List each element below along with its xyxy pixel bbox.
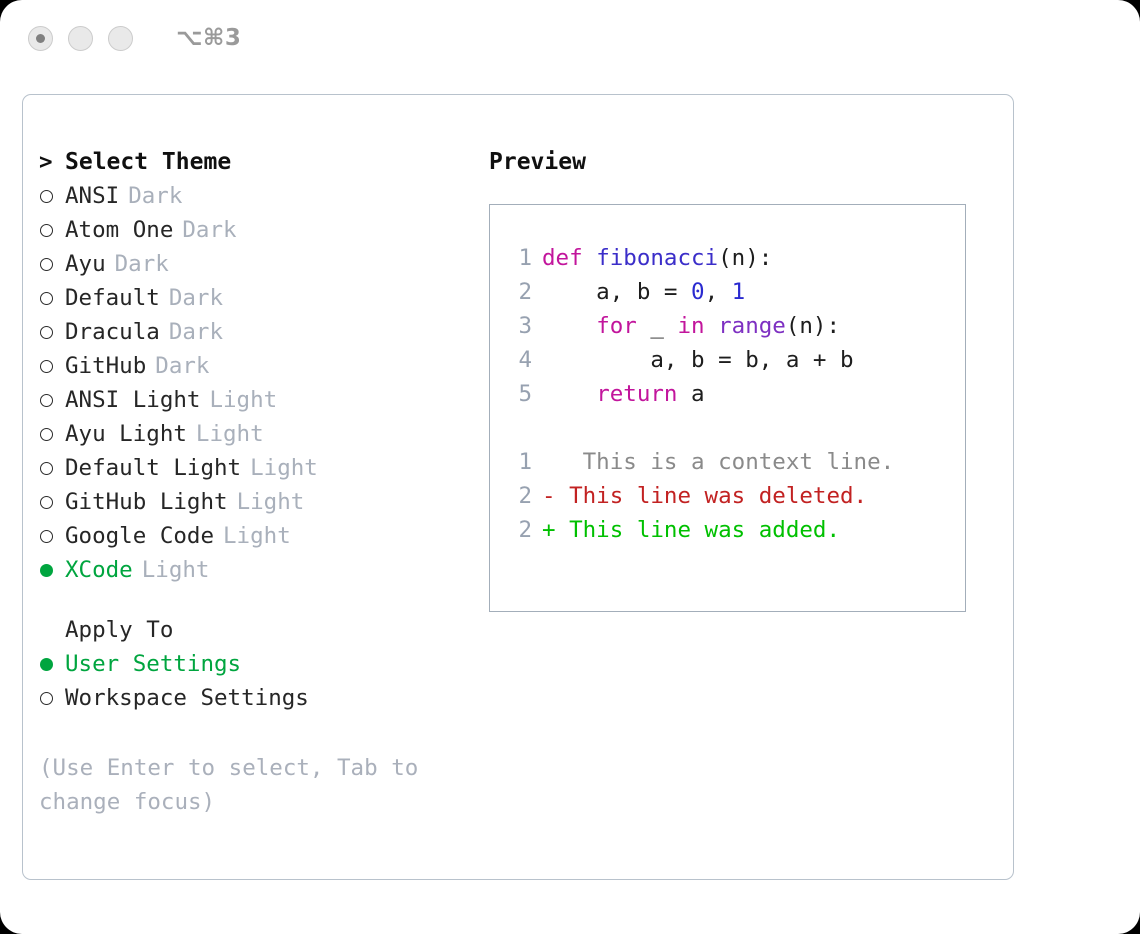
keyboard-hint-text: (Use Enter to select, Tab to change focu… <box>39 751 439 819</box>
app-window: ⌥⌘3 > Select Theme ANSIDarkAtom OneDarkA… <box>0 0 1140 934</box>
radio-glyph <box>40 326 53 339</box>
theme-list-item[interactable]: Default LightLight <box>39 451 488 485</box>
diff-text: This line was deleted. <box>556 483 868 509</box>
radio-glyph <box>40 496 53 509</box>
theme-list: ANSIDarkAtom OneDarkAyuDarkDefaultDarkDr… <box>39 179 488 587</box>
code-token: a <box>677 381 704 407</box>
code-token: fibonacci <box>596 245 718 271</box>
titlebar: ⌥⌘3 <box>0 0 1140 76</box>
theme-list-item[interactable]: DefaultDark <box>39 281 488 315</box>
diff-sign: + <box>542 517 556 543</box>
code-token: 1 <box>732 279 746 305</box>
select-theme-header: > Select Theme <box>39 145 488 179</box>
radio-unselected-icon <box>39 349 65 383</box>
code-token <box>542 381 596 407</box>
theme-kind-label: Dark <box>128 179 182 213</box>
theme-kind-label: Dark <box>115 247 169 281</box>
apply-to-options: User SettingsWorkspace Settings <box>39 647 488 715</box>
radio-glyph <box>40 564 53 577</box>
diff-sample: 1 This is a context line.2- This line wa… <box>506 445 965 547</box>
theme-kind-label: Light <box>237 485 305 519</box>
radio-glyph <box>40 428 53 441</box>
theme-name: ANSI <box>65 179 119 213</box>
code-token: , <box>705 279 732 305</box>
radio-glyph <box>40 224 53 237</box>
preview-title: Preview <box>489 145 1013 179</box>
radio-glyph <box>40 530 53 543</box>
theme-kind-label: Dark <box>169 281 223 315</box>
prompt-caret-icon: > <box>39 145 65 179</box>
theme-name: Default Light <box>65 451 241 485</box>
code-sample: 1def fibonacci(n):2 a, b = 0, 13 for _ i… <box>506 241 965 411</box>
code-token <box>542 313 596 339</box>
apply-to-option-label: Workspace Settings <box>65 681 309 715</box>
theme-name: GitHub Light <box>65 485 228 519</box>
diff-line-number: 1 <box>506 445 532 479</box>
diff-sign <box>542 449 556 475</box>
theme-kind-label: Dark <box>155 349 209 383</box>
theme-kind-label: Light <box>196 417 264 451</box>
code-token: in <box>677 313 704 339</box>
theme-name: Google Code <box>65 519 214 553</box>
hint-spacer <box>39 715 488 749</box>
theme-kind-label: Dark <box>169 315 223 349</box>
radio-unselected-icon <box>39 179 65 213</box>
theme-name: Dracula <box>65 315 160 349</box>
diff-sign: - <box>542 483 556 509</box>
radio-unselected-icon <box>39 383 65 417</box>
diff-text: This is a context line. <box>556 449 895 475</box>
theme-kind-label: Light <box>223 519 291 553</box>
radio-glyph <box>40 360 53 373</box>
theme-name: XCode <box>65 553 133 587</box>
code-line-number: 5 <box>506 377 532 411</box>
diff-text: This line was added. <box>556 517 840 543</box>
radio-selected-icon <box>39 647 65 681</box>
code-token: a, b = b, a + b <box>542 347 854 373</box>
theme-list-item[interactable]: ANSIDark <box>39 179 488 213</box>
code-token: (n): <box>786 313 840 339</box>
code-line: 3 for _ in range(n): <box>506 309 965 343</box>
code-line: 4 a, b = b, a + b <box>506 343 965 377</box>
code-line-number: 1 <box>506 241 532 275</box>
theme-list-item[interactable]: Google CodeLight <box>39 519 488 553</box>
code-line: 1def fibonacci(n): <box>506 241 965 275</box>
diff-line: 2- This line was deleted. <box>506 479 965 513</box>
code-line-number: 4 <box>506 343 532 377</box>
content-window: > Select Theme ANSIDarkAtom OneDarkAyuDa… <box>22 94 1014 880</box>
radio-unselected-icon <box>39 417 65 451</box>
code-token: return <box>596 381 677 407</box>
theme-list-item[interactable]: Ayu LightLight <box>39 417 488 451</box>
diff-line-number: 2 <box>506 513 532 547</box>
theme-list-item[interactable]: DraculaDark <box>39 315 488 349</box>
theme-list-item[interactable]: XCodeLight <box>39 553 488 587</box>
code-line-number: 2 <box>506 275 532 309</box>
code-token: def <box>542 245 596 271</box>
window-dot-1[interactable] <box>28 26 53 51</box>
code-diff-gap <box>506 411 965 445</box>
diff-line-number: 2 <box>506 479 532 513</box>
code-line-number: 3 <box>506 309 532 343</box>
diff-line: 1 This is a context line. <box>506 445 965 479</box>
window-dot-2[interactable] <box>68 26 93 51</box>
theme-name: Ayu <box>65 247 106 281</box>
code-line: 5 return a <box>506 377 965 411</box>
theme-picker-panel: > Select Theme ANSIDarkAtom OneDarkAyuDa… <box>23 95 488 879</box>
code-token: for <box>596 313 637 339</box>
radio-unselected-icon <box>39 519 65 553</box>
window-dot-1-indicator <box>36 34 45 43</box>
radio-unselected-icon <box>39 247 65 281</box>
radio-glyph <box>40 292 53 305</box>
radio-glyph <box>40 258 53 271</box>
theme-kind-label: Light <box>250 451 318 485</box>
theme-list-item[interactable]: ANSI LightLight <box>39 383 488 417</box>
radio-glyph <box>40 394 53 407</box>
window-dot-3[interactable] <box>108 26 133 51</box>
radio-unselected-icon <box>39 281 65 315</box>
theme-name: Ayu Light <box>65 417 187 451</box>
apply-to-option-label: User Settings <box>65 647 241 681</box>
diff-line: 2+ This line was added. <box>506 513 965 547</box>
radio-glyph <box>40 462 53 475</box>
code-token <box>705 313 719 339</box>
radio-glyph <box>40 692 53 705</box>
theme-kind-label: Light <box>209 383 277 417</box>
code-token: (n): <box>718 245 772 271</box>
apply-to-label: Apply To <box>65 613 173 647</box>
theme-name: Default <box>65 281 160 315</box>
radio-glyph <box>40 658 53 671</box>
theme-list-item[interactable]: Atom OneDark <box>39 213 488 247</box>
theme-list-item[interactable]: AyuDark <box>39 247 488 281</box>
code-line: 2 a, b = 0, 1 <box>506 275 965 309</box>
radio-unselected-icon <box>39 485 65 519</box>
radio-unselected-icon <box>39 315 65 349</box>
preview-panel: Preview 1def fibonacci(n):2 a, b = 0, 13… <box>488 95 1013 879</box>
theme-kind-label: Light <box>142 553 210 587</box>
code-token: range <box>718 313 786 339</box>
theme-list-item[interactable]: GitHubDark <box>39 349 488 383</box>
preview-box: 1def fibonacci(n):2 a, b = 0, 13 for _ i… <box>489 204 966 612</box>
radio-selected-icon <box>39 553 65 587</box>
list-spacer <box>39 587 488 613</box>
code-token: a, b = <box>542 279 691 305</box>
keyboard-shortcut-label: ⌥⌘3 <box>176 25 241 51</box>
code-token: _ <box>637 313 678 339</box>
theme-name: GitHub <box>65 349 146 383</box>
select-theme-title: Select Theme <box>65 145 231 179</box>
theme-name: Atom One <box>65 213 173 247</box>
apply-to-option[interactable]: Workspace Settings <box>39 681 488 715</box>
radio-glyph <box>40 190 53 203</box>
radio-unselected-icon <box>39 451 65 485</box>
radio-unselected-icon <box>39 213 65 247</box>
theme-list-item[interactable]: GitHub LightLight <box>39 485 488 519</box>
apply-to-header: Apply To <box>39 613 488 647</box>
code-token: 0 <box>691 279 705 305</box>
radio-unselected-icon <box>39 681 65 715</box>
apply-to-option[interactable]: User Settings <box>39 647 488 681</box>
theme-name: ANSI Light <box>65 383 200 417</box>
theme-kind-label: Dark <box>182 213 236 247</box>
